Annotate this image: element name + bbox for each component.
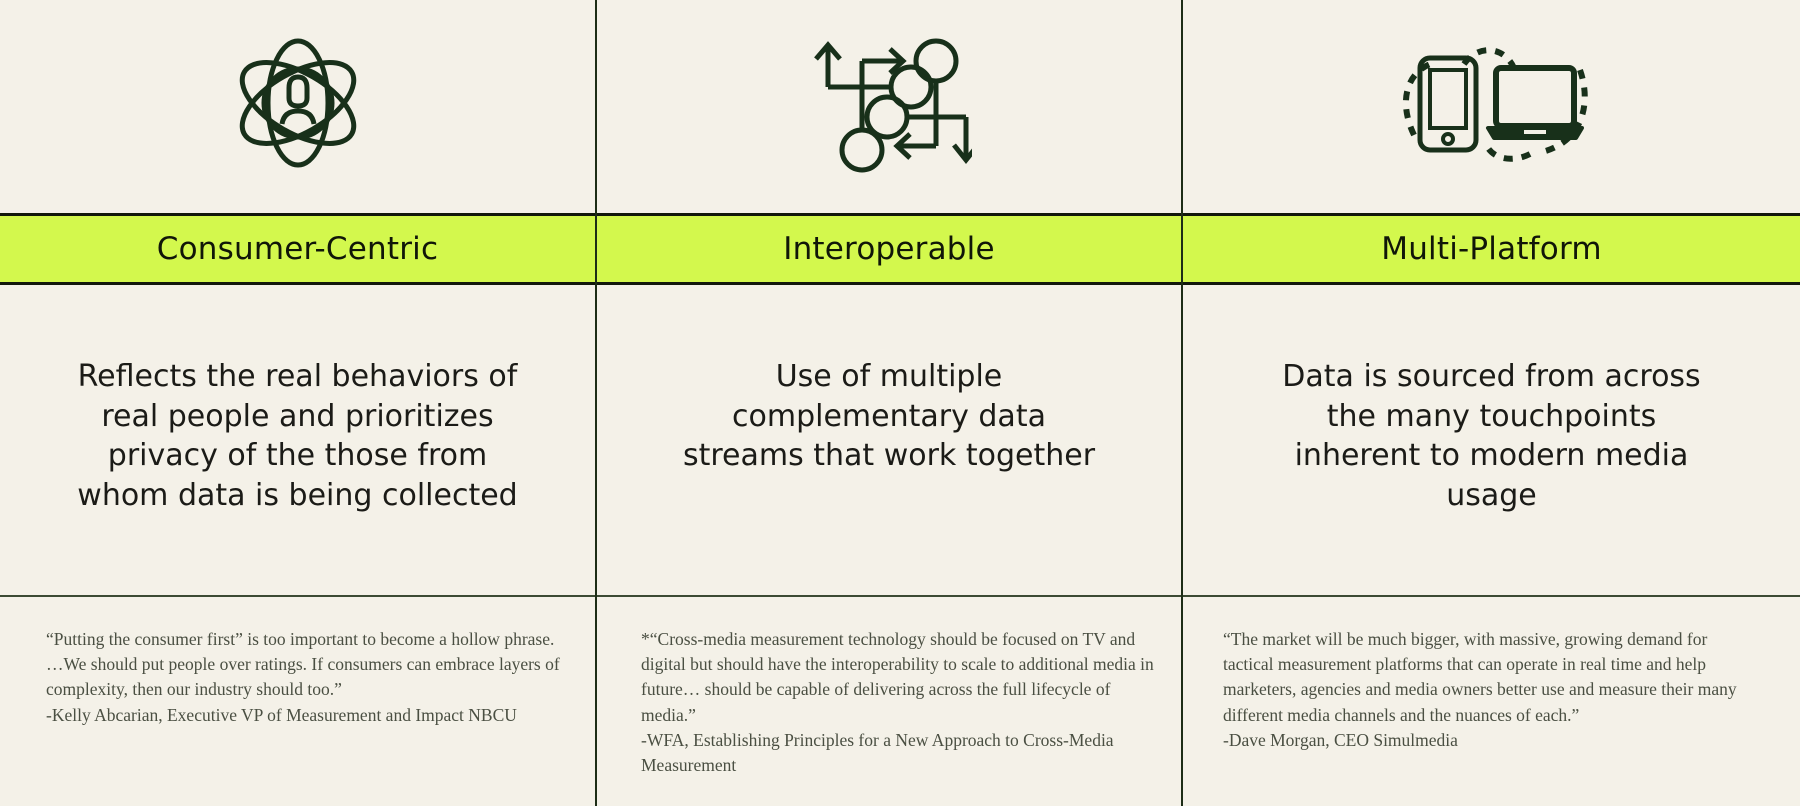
quote-cell-interoperable: *“Cross-media measurement technology sho…: [597, 595, 1181, 806]
quote-body: “Putting the consumer first” is too impo…: [46, 627, 565, 703]
principles-board: Consumer-Centric Reflects the real behav…: [0, 0, 1800, 806]
description-cell-consumer-centric: Reflects the real behaviors of real peop…: [0, 285, 595, 595]
label-band-interoperable: Interoperable: [597, 213, 1181, 285]
description-cell-interoperable: Use of multiple complementary data strea…: [597, 285, 1181, 595]
icon-cell-interoperable: [597, 0, 1181, 213]
atom-consumer-icon: [223, 28, 373, 178]
quote-attribution: -Kelly Abcarian, Executive VP of Measure…: [46, 703, 565, 728]
label-band-consumer-centric: Consumer-Centric: [0, 213, 595, 285]
quote-attribution: -WFA, Establishing Principles for a New …: [641, 728, 1155, 778]
principle-column-multi-platform: Multi-Platform Data is sourced from acro…: [1183, 0, 1800, 806]
principle-column-interoperable: Interoperable Use of multiple complement…: [597, 0, 1183, 806]
principle-label: Consumer-Centric: [157, 232, 438, 266]
quote-attribution: -Dave Morgan, CEO Simulmedia: [1223, 728, 1760, 753]
quote-cell-consumer-centric: “Putting the consumer first” is too impo…: [0, 595, 595, 806]
description-cell-multi-platform: Data is sourced from across the many tou…: [1183, 285, 1800, 595]
principle-label: Interoperable: [783, 232, 995, 266]
principle-description: Data is sourced from across the many tou…: [1272, 357, 1712, 515]
multi-device-phone-laptop-icon: [1392, 40, 1592, 165]
principles-columns: Consumer-Centric Reflects the real behav…: [0, 0, 1800, 806]
quote-body: *“Cross-media measurement technology sho…: [641, 627, 1155, 728]
quote-body: “The market will be much bigger, with ma…: [1223, 627, 1760, 728]
principle-column-consumer-centric: Consumer-Centric Reflects the real behav…: [0, 0, 597, 806]
interoperability-flow-icon: [806, 33, 972, 173]
label-band-multi-platform: Multi-Platform: [1183, 213, 1800, 285]
quote-cell-multi-platform: “The market will be much bigger, with ma…: [1183, 595, 1800, 806]
icon-cell-multi-platform: [1183, 0, 1800, 213]
principle-description: Use of multiple complementary data strea…: [674, 357, 1104, 476]
principle-label: Multi-Platform: [1381, 232, 1602, 266]
icon-cell-consumer-centric: [0, 0, 595, 213]
principle-description: Reflects the real behaviors of real peop…: [63, 357, 533, 515]
